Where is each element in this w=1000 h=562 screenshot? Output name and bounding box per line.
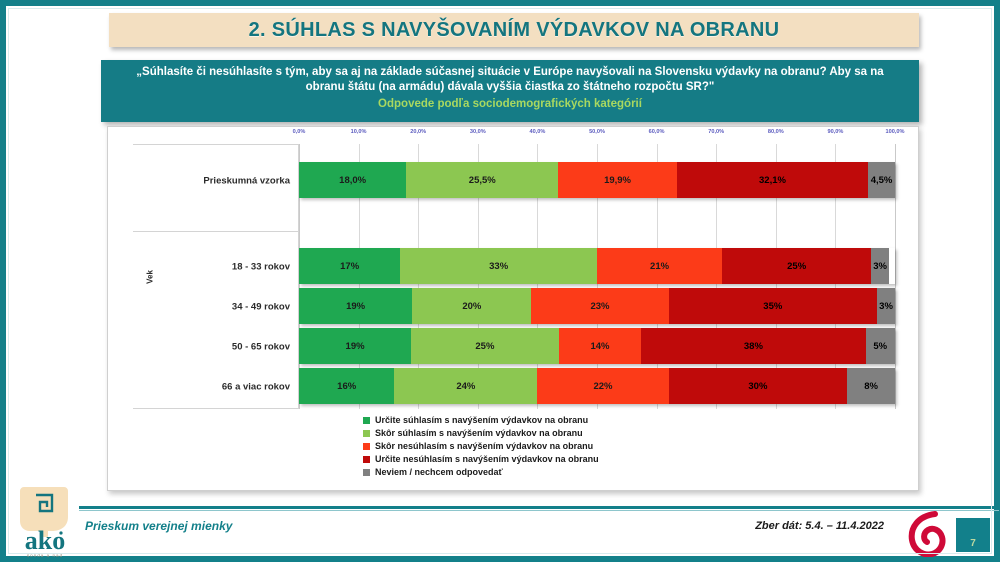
x-tick-label: 70,0% <box>708 129 724 135</box>
legend-swatch-icon <box>363 456 370 463</box>
slide-frame: 2. SÚHLAS S NAVYŠOVANÍM VÝDAVKOV NA OBRA… <box>0 0 1000 562</box>
chart-legend: Určite súhlasím s navýšením výdavkov na … <box>108 415 918 477</box>
bar-segment: 14% <box>559 328 642 364</box>
bar-row: 16%24%22%30%8% <box>299 368 895 404</box>
x-tick-label: 80,0% <box>768 129 784 135</box>
bar-segment: 24% <box>394 368 537 404</box>
bar-segment: 8% <box>847 368 895 404</box>
page-number: 7 <box>970 538 976 549</box>
footer-date: Zber dát: 5.4. – 11.4.2022 <box>755 520 884 532</box>
footer-caption: Prieskum verejnej mienky <box>85 519 232 533</box>
x-tick-label: 90,0% <box>827 129 843 135</box>
logo-wordmark: ako <box>25 526 65 555</box>
question-banner: „Súhlasíte či nesúhlasíte s tým, aby sa … <box>101 60 919 122</box>
bar-segment: 5% <box>866 328 896 364</box>
legend-swatch-icon <box>363 417 370 424</box>
bar-segment: 20% <box>412 288 531 324</box>
ako-logo: ako sonda a nad <box>14 483 76 559</box>
bar-segment: 33% <box>400 248 597 284</box>
bar-segment: 3% <box>877 288 895 324</box>
bar-row: 17%33%21%25%3% <box>299 248 895 284</box>
bar-segment: 18,0% <box>299 162 406 198</box>
legend-label: Určite nesúhlasím s navýšením výdavkov n… <box>375 454 599 464</box>
legend-swatch-icon <box>363 469 370 476</box>
bar-segment: 16% <box>299 368 394 404</box>
bar-segment: 38% <box>641 328 865 364</box>
page-number-badge: 7 <box>956 518 990 552</box>
bar-segment: 23% <box>531 288 668 324</box>
legend-label: Neviem / nechcem odpovedať <box>375 467 503 477</box>
category-label: 50 - 65 rokov <box>232 342 290 353</box>
category-label: Prieskumná vzorka <box>203 176 290 187</box>
page-title: 2. SÚHLAS S NAVYŠOVANÍM VÝDAVKOV NA OBRA… <box>249 19 780 42</box>
bar-segment: 4,5% <box>868 162 895 198</box>
category-group-separator <box>133 231 298 232</box>
legend-item: Určite súhlasím s navýšením výdavkov na … <box>363 415 663 425</box>
bar-segment: 22% <box>537 368 668 404</box>
x-tick-label: 10,0% <box>351 129 367 135</box>
chart-container: 0,0%10,0%20,0%30,0%40,0%50,0%60,0%70,0%8… <box>107 126 919 491</box>
bar-segment: 19% <box>299 328 411 364</box>
plot-area: Vek Prieskumná vzorka18 - 33 rokov34 - 4… <box>133 144 895 409</box>
legend-label: Skôr súhlasím s navýšením výdavkov na ob… <box>375 428 583 438</box>
bar-segment: 30% <box>669 368 848 404</box>
category-axis-column: Vek Prieskumná vzorka18 - 33 rokov34 - 4… <box>133 144 299 409</box>
category-label: 34 - 49 rokov <box>232 302 290 313</box>
bar-segment: 25,5% <box>406 162 558 198</box>
bar-row: 19%25%14%38%5% <box>299 328 895 364</box>
bar-segment: 25% <box>411 328 559 364</box>
category-label: 18 - 33 rokov <box>232 262 290 273</box>
legend-item: Skôr nesúhlasím s navýšením výdavkov na … <box>363 441 663 451</box>
x-tick-label: 0,0% <box>293 129 306 135</box>
legend-label: Skôr nesúhlasím s navýšením výdavkov na … <box>375 441 593 451</box>
x-tick-label: 40,0% <box>529 129 545 135</box>
gridline <box>895 144 896 409</box>
bar-row: 18,0%25,5%19,9%32,1%4,5% <box>299 162 895 198</box>
bar-segment: 19,9% <box>558 162 677 198</box>
bar-segment: 17% <box>299 248 400 284</box>
bar-segment: 35% <box>669 288 878 324</box>
legend-swatch-icon <box>363 430 370 437</box>
x-tick-label: 50,0% <box>589 129 605 135</box>
bar-segment: 25% <box>722 248 871 284</box>
footer-divider <box>79 506 999 509</box>
x-axis-tick-labels: 0,0%10,0%20,0%30,0%40,0%50,0%60,0%70,0%8… <box>108 129 918 143</box>
legend-item: Určite nesúhlasím s navýšením výdavkov n… <box>363 454 663 464</box>
slide-title-band: 2. SÚHLAS S NAVYŠOVANÍM VÝDAVKOV NA OBRA… <box>109 13 919 47</box>
question-subtitle: Odpovede podľa sociodemografických kateg… <box>117 97 903 112</box>
bar-segment: 32,1% <box>677 162 868 198</box>
category-label: 66 a viac rokov <box>222 382 290 393</box>
legend-item: Skôr súhlasím s navýšením výdavkov na ob… <box>363 428 663 438</box>
bar-segment: 3% <box>871 248 889 284</box>
bar-row: 19%20%23%35%3% <box>299 288 895 324</box>
brand-swirl-icon <box>908 511 950 557</box>
y-axis-title: Vek <box>145 270 154 284</box>
legend-swatch-icon <box>363 443 370 450</box>
legend-item: Neviem / nechcem odpovedať <box>363 467 663 477</box>
bar-segment: 21% <box>597 248 722 284</box>
x-tick-label: 60,0% <box>649 129 665 135</box>
question-text: „Súhlasíte či nesúhlasíte s tým, aby sa … <box>117 65 903 95</box>
x-tick-label: 100,0% <box>886 129 905 135</box>
logo-tagline: sonda a nad <box>27 553 63 558</box>
bar-segment: 19% <box>299 288 412 324</box>
legend-label: Určite súhlasím s navýšením výdavkov na … <box>375 415 588 425</box>
x-tick-label: 30,0% <box>470 129 486 135</box>
x-tick-label: 20,0% <box>410 129 426 135</box>
